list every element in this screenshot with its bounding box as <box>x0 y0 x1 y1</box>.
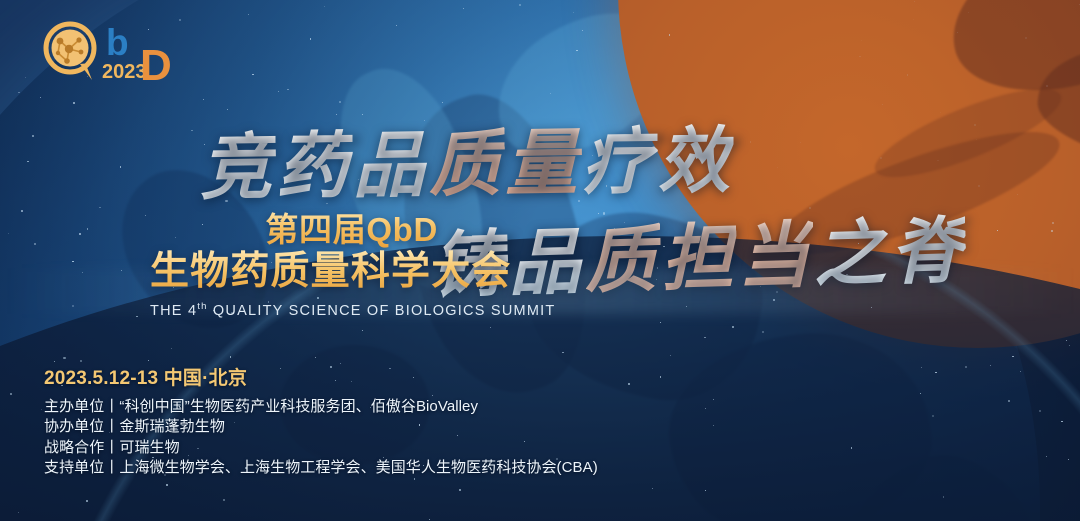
star <box>1061 421 1062 422</box>
date-location: 2023.5.12-13 中国·北京 <box>44 363 247 390</box>
star <box>287 89 288 90</box>
star <box>851 447 852 448</box>
title-english-ordinal: th <box>197 301 207 312</box>
star <box>1066 340 1067 341</box>
star <box>603 212 605 214</box>
star <box>442 102 443 103</box>
star <box>336 114 337 115</box>
star <box>72 261 73 262</box>
star <box>943 496 944 497</box>
star <box>859 56 860 57</box>
star <box>1046 85 1048 87</box>
star <box>63 357 65 359</box>
star <box>429 519 430 520</box>
star <box>362 114 363 115</box>
star <box>882 104 883 105</box>
star <box>705 408 706 409</box>
star <box>713 399 714 400</box>
star <box>1012 356 1013 357</box>
calligraphy-line-1-char-4: 量 <box>505 120 582 205</box>
star <box>660 322 661 323</box>
star <box>99 207 100 208</box>
star <box>86 500 88 502</box>
star <box>362 330 363 331</box>
star <box>18 92 19 93</box>
star <box>750 141 751 142</box>
star <box>230 356 231 357</box>
star <box>932 415 934 417</box>
star <box>1025 37 1026 38</box>
calligraphy-line-1-char-6: 效 <box>657 118 734 203</box>
star <box>652 488 653 489</box>
star <box>582 30 583 31</box>
star <box>968 12 969 13</box>
star <box>861 40 862 41</box>
calligraphy-line-1-char-1: 药 <box>276 124 353 209</box>
star <box>670 355 671 356</box>
star <box>340 363 341 364</box>
star <box>280 368 281 369</box>
star <box>315 357 316 358</box>
title-english-post: QUALITY SCIENCE OF BIOLOGICS SUMMIT <box>208 303 556 319</box>
star <box>990 365 991 366</box>
star <box>660 376 661 377</box>
star <box>248 14 249 15</box>
star <box>79 233 81 235</box>
organizer-line-3: 支持单位丨上海微生物学会、上海生物工程学会、美国华人生物医药科技协会(CBA) <box>44 458 598 478</box>
qbd-logo[interactable]: b 2023 D <box>36 18 186 86</box>
star <box>54 361 55 362</box>
star <box>974 124 976 126</box>
star <box>335 380 336 381</box>
star <box>490 327 491 328</box>
star <box>310 38 311 39</box>
star <box>324 6 325 7</box>
star <box>21 210 23 212</box>
star <box>32 135 34 137</box>
star <box>921 367 922 368</box>
star <box>598 213 599 214</box>
star <box>762 331 764 333</box>
conference-poster: b 2023 D 竞药品质量疗效 铸品质担当之脊 第四届QbD 生物药质量科学大… <box>0 0 1080 521</box>
star <box>704 337 705 338</box>
star <box>191 130 192 131</box>
star <box>573 12 574 13</box>
star <box>73 102 74 103</box>
star <box>120 166 121 167</box>
star <box>463 8 464 9</box>
q-bubble-mark <box>46 24 94 80</box>
logo-letter-b: b <box>106 22 129 63</box>
title-english-pre: THE 4 <box>150 303 197 319</box>
star <box>148 360 149 361</box>
star <box>136 316 137 317</box>
star <box>330 366 331 367</box>
star <box>27 161 28 162</box>
star <box>432 395 433 396</box>
star <box>576 50 577 51</box>
star <box>978 185 980 187</box>
calligraphy-line-1: 竞药品质量疗效 <box>200 124 735 203</box>
star <box>809 207 810 208</box>
title-main: 生物药质量科学大会 <box>150 250 570 295</box>
star <box>1052 222 1054 224</box>
star <box>550 93 551 94</box>
star <box>1069 345 1070 346</box>
title-block: 第四届QbD 生物药质量科学大会 THE 4th QUALITY SCIENCE… <box>150 212 570 319</box>
star <box>459 489 461 491</box>
calligraphy-line-1-char-2: 品 <box>352 123 429 208</box>
star <box>389 368 390 369</box>
star <box>18 512 19 513</box>
logo-letter-d: D <box>140 41 172 86</box>
calligraphy-line-1-char-5: 疗 <box>581 119 658 204</box>
star <box>171 348 172 349</box>
organizer-line-0: 主办单位丨“科创中国”生物医药产业科技服务团、佰傲谷BioValley <box>44 397 598 417</box>
star <box>940 112 941 113</box>
star <box>10 393 11 394</box>
star <box>880 157 882 159</box>
organizer-list: 主办单位丨“科创中国”生物医药产业科技服务团、佰傲谷BioValley协办单位丨… <box>44 397 598 479</box>
star <box>25 77 26 78</box>
star <box>203 99 204 100</box>
star <box>278 91 279 92</box>
star <box>40 97 41 98</box>
star <box>87 228 88 229</box>
star <box>1020 371 1021 372</box>
star <box>957 32 958 33</box>
star <box>935 372 936 373</box>
star <box>976 139 977 140</box>
star <box>965 366 967 368</box>
star <box>713 425 714 426</box>
star <box>800 142 801 143</box>
star <box>907 74 908 75</box>
star <box>339 101 341 103</box>
organizer-line-1: 协办单位丨金斯瑞蓬勃生物 <box>44 417 598 437</box>
star <box>223 499 225 501</box>
star <box>997 230 998 231</box>
star <box>351 381 352 382</box>
star <box>669 34 670 35</box>
star <box>913 19 914 20</box>
title-english: THE 4th QUALITY SCIENCE OF BIOLOGICS SUM… <box>150 301 570 319</box>
star <box>1008 400 1010 402</box>
title-edition: 第四届QbD <box>150 212 570 248</box>
calligraphy-line-1-char-3: 质 <box>428 121 505 206</box>
star <box>145 215 146 216</box>
star <box>1046 456 1047 457</box>
star <box>166 484 168 486</box>
star <box>732 326 734 328</box>
star <box>227 109 228 110</box>
calligraphy-line-1-char-0: 竞 <box>199 125 276 210</box>
star <box>562 352 563 353</box>
star <box>252 74 253 75</box>
organizer-line-2: 战略合作丨可瑞生物 <box>44 438 598 458</box>
star <box>8 233 9 234</box>
star <box>396 25 397 26</box>
star <box>628 383 630 385</box>
star <box>424 120 425 121</box>
star <box>519 4 521 6</box>
star <box>1068 459 1069 460</box>
star <box>705 490 706 491</box>
star <box>1017 194 1018 195</box>
star <box>777 167 778 168</box>
star <box>920 393 921 394</box>
star <box>1039 410 1041 412</box>
star <box>413 377 414 378</box>
star <box>937 160 938 161</box>
star <box>41 409 42 410</box>
star <box>914 1 915 2</box>
star <box>1051 230 1053 232</box>
star <box>34 243 36 245</box>
